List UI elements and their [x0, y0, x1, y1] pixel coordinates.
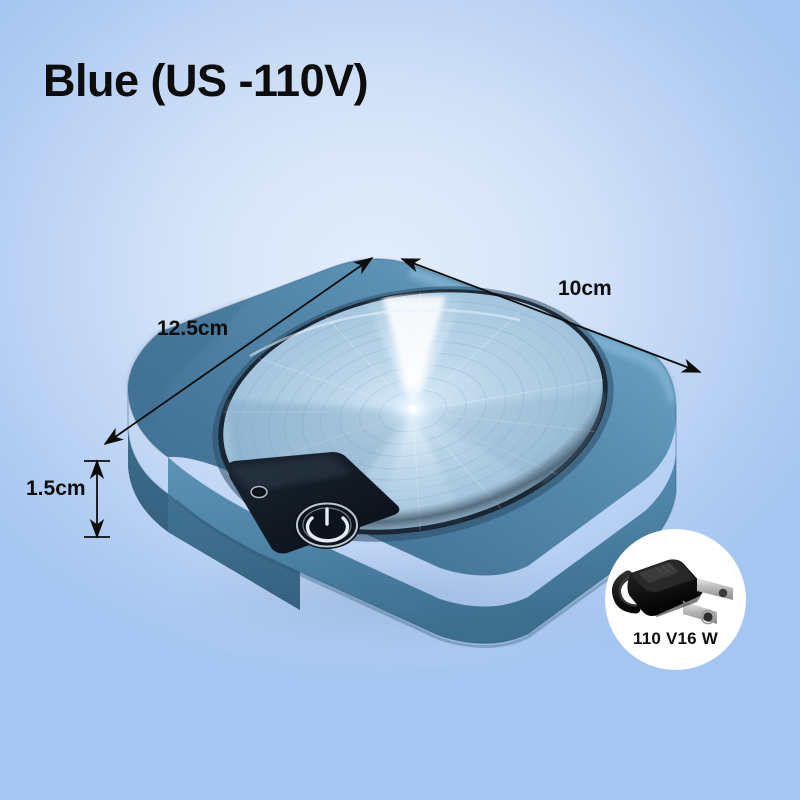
us-two-prong-plug-icon — [616, 559, 733, 624]
dimension-label-depth: 10cm — [558, 277, 612, 301]
dimension-line-depth — [402, 259, 700, 372]
dimension-label-height: 1.5cm — [26, 477, 86, 501]
plug-prong-upper-hole — [719, 589, 727, 597]
plug-prong-upper — [697, 578, 733, 600]
dimension-line-width — [105, 258, 372, 444]
dimension-label-width: 12.5cm — [157, 317, 228, 341]
dimension-svg — [0, 0, 800, 800]
plug-prong-lower-hole — [703, 612, 712, 621]
product-image-canvas: Blue (US -110V) — [0, 0, 800, 800]
plug-badge: 110 V16 W — [605, 529, 746, 670]
plug-badge-caption: 110 V16 W — [605, 629, 746, 649]
